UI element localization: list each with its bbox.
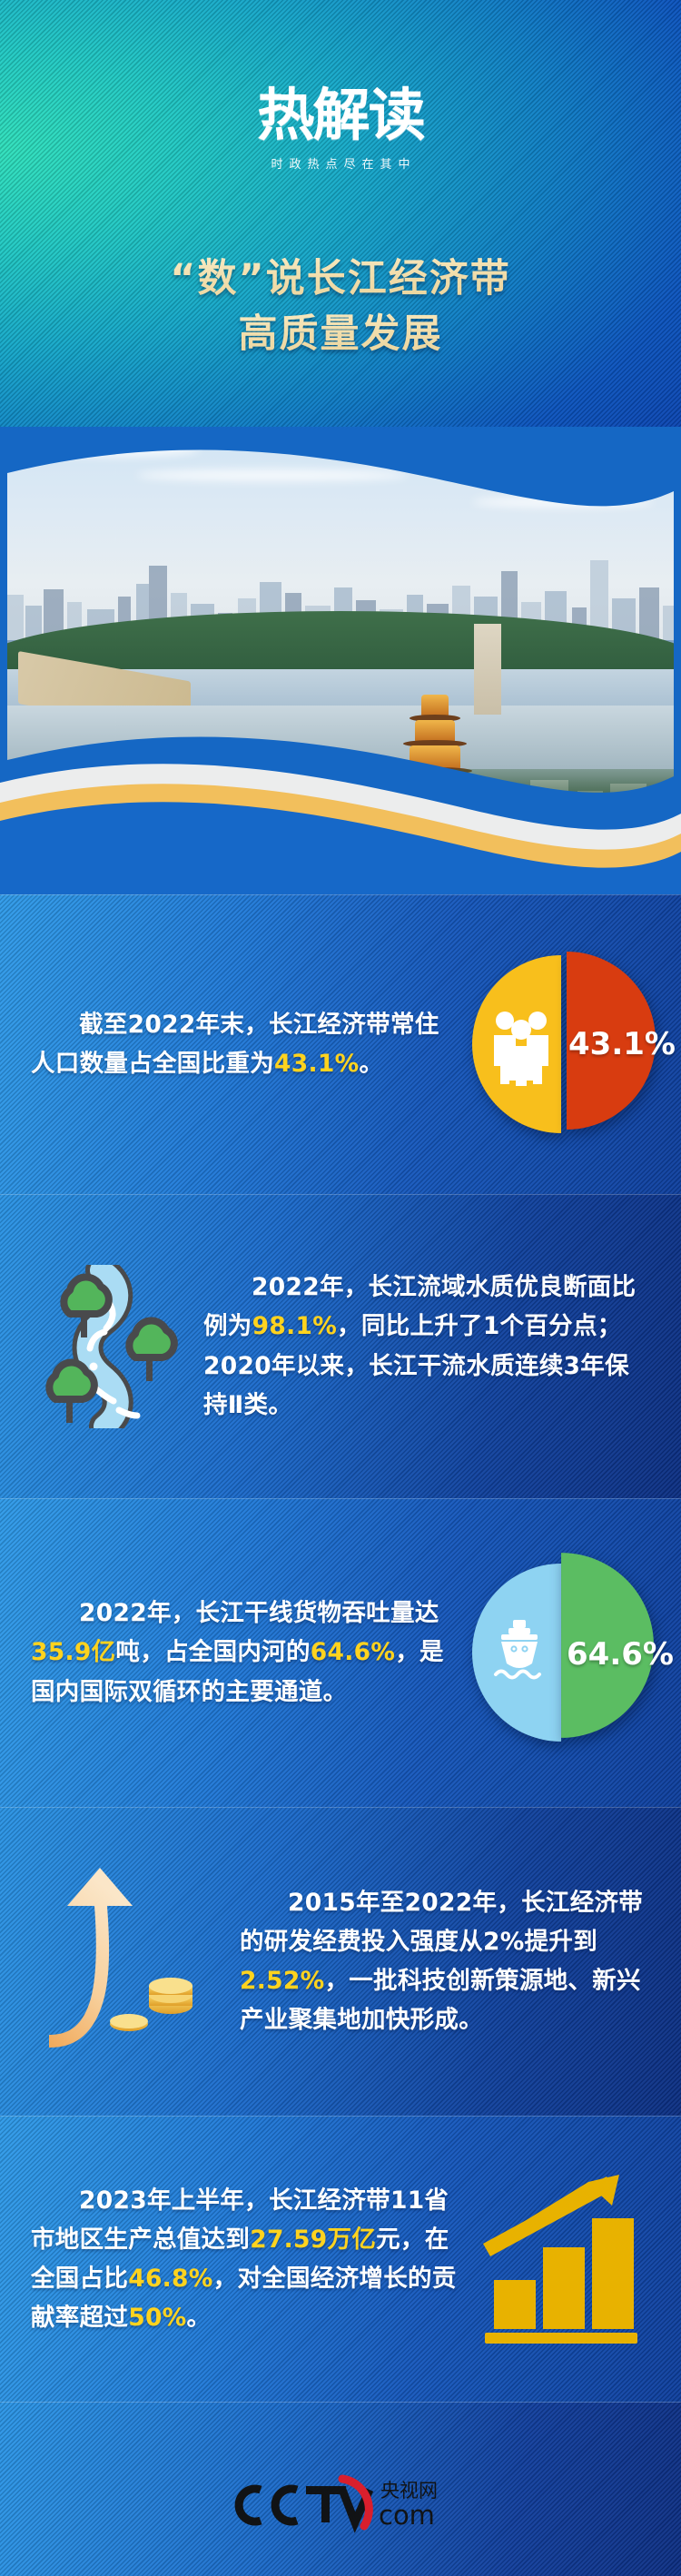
brand-logo-block: 热解读 时政热点尽在其中 bbox=[0, 87, 681, 172]
cctv-letter-c1 bbox=[239, 2489, 261, 2522]
page-title-line-2: 高质量发展 bbox=[0, 307, 681, 362]
pie-chart-population: 43.1% bbox=[472, 955, 650, 1133]
growth-arrow-coins-icon bbox=[40, 1857, 231, 2066]
stat-card-rd-intensity: 2015年至2022年，长江经济带的研发经费投入强度从2%提升到2.52%，一批… bbox=[0, 1807, 681, 2116]
growth-arrow-illustration bbox=[31, 1857, 240, 2066]
card-divider-top bbox=[0, 894, 681, 895]
highlight-cargo-volume: 35.9亿 bbox=[31, 1638, 115, 1666]
bar-chart-illustration bbox=[472, 2173, 650, 2345]
pie-label-population: 43.1% bbox=[568, 1026, 676, 1062]
bar-chart-arrow-icon bbox=[479, 2173, 643, 2345]
cctv-letter-c2 bbox=[275, 2489, 297, 2522]
highlight-rd-intensity: 2.52% bbox=[240, 1967, 324, 1995]
people-icon bbox=[492, 1008, 550, 1086]
coins-stack bbox=[110, 1978, 192, 2031]
header-banner: 热解读 时政热点尽在其中 “数”说长江经济带 高质量发展 bbox=[0, 0, 681, 427]
highlight-population-share: 43.1% bbox=[274, 1050, 359, 1078]
card-divider-top bbox=[0, 2116, 681, 2117]
photo-highrise bbox=[474, 624, 501, 715]
tree-icon-3 bbox=[49, 1362, 94, 1422]
stat-card-population: 截至2022年末，长江经济带常住人口数量占全国比重为43.1%。 bbox=[0, 894, 681, 1194]
tree-icon-2 bbox=[129, 1320, 174, 1380]
highlight-cargo-share: 64.6% bbox=[311, 1638, 395, 1666]
photo-wave-trim bbox=[0, 726, 681, 899]
cctv-logo[interactable]: 央视网 com bbox=[228, 2472, 453, 2539]
header-stripe-texture bbox=[0, 0, 681, 427]
highlight-gdp-contribution: 50% bbox=[128, 2304, 186, 2332]
river-trees-icon bbox=[35, 1265, 199, 1428]
footer: 央视网 com bbox=[0, 2403, 681, 2576]
bar-3 bbox=[592, 2218, 634, 2329]
pie-label-cargo: 64.6% bbox=[567, 1636, 674, 1673]
infographic-page: 热解读 时政热点尽在其中 “数”说长江经济带 高质量发展 bbox=[0, 0, 681, 2576]
stat-card-text-population: 截至2022年末，长江经济带常住人口数量占全国比重为43.1%。 bbox=[31, 1005, 472, 1083]
stat-card-text-water-quality: 2022年，长江流域水质优良断面比例为98.1%，同比上升了1个百分点；2020… bbox=[203, 1268, 650, 1425]
card-divider-top bbox=[0, 1194, 681, 1195]
page-title: “数”说长江经济带 高质量发展 bbox=[0, 252, 681, 362]
highlight-gdp-total: 27.59万亿 bbox=[250, 2226, 376, 2254]
cctv-logo-suffix: com bbox=[379, 2500, 435, 2531]
stat-card-cargo: 2022年，长江干线货物吞吐量达35.9亿吨，占全国内河的64.6%，是国内国际… bbox=[0, 1498, 681, 1807]
stat-card-gdp: 2023年上半年，长江经济带11省市地区生产总值达到27.59万亿元，在全国占比… bbox=[0, 2116, 681, 2403]
card-divider-top bbox=[0, 1807, 681, 1808]
bar-baseline bbox=[485, 2333, 637, 2344]
brand-logo-subtitle: 时政热点尽在其中 bbox=[0, 154, 681, 172]
stat-card-text-rd-intensity: 2015年至2022年，长江经济带的研发经费投入强度从2%提升到2.52%，一批… bbox=[240, 1883, 650, 2040]
pie-chart-cargo: 64.6% bbox=[472, 1564, 650, 1742]
bar-1 bbox=[494, 2280, 536, 2329]
brand-logo-text: 热解读 bbox=[257, 87, 424, 143]
stat-card-text-cargo: 2022年，长江干线货物吞吐量达35.9亿吨，占全国内河的64.6%，是国内国际… bbox=[31, 1594, 472, 1712]
page-title-line-1: “数”说长江经济带 bbox=[0, 252, 681, 307]
highlight-water-quality: 98.1% bbox=[252, 1312, 337, 1340]
river-trees-illustration bbox=[31, 1265, 203, 1428]
card-divider-top bbox=[0, 1498, 681, 1499]
cctv-logo-cn: 央视网 bbox=[380, 2480, 438, 2502]
stat-card-text-gdp: 2023年上半年，长江经济带11省市地区生产总值达到27.59万亿元，在全国占比… bbox=[31, 2181, 472, 2338]
stat-card-water-quality: 2022年，长江流域水质优良断面比例为98.1%，同比上升了1个百分点；2020… bbox=[0, 1194, 681, 1498]
ship-icon bbox=[490, 1620, 548, 1685]
highlight-gdp-share: 46.8% bbox=[128, 2265, 212, 2293]
bar-2 bbox=[543, 2247, 585, 2329]
